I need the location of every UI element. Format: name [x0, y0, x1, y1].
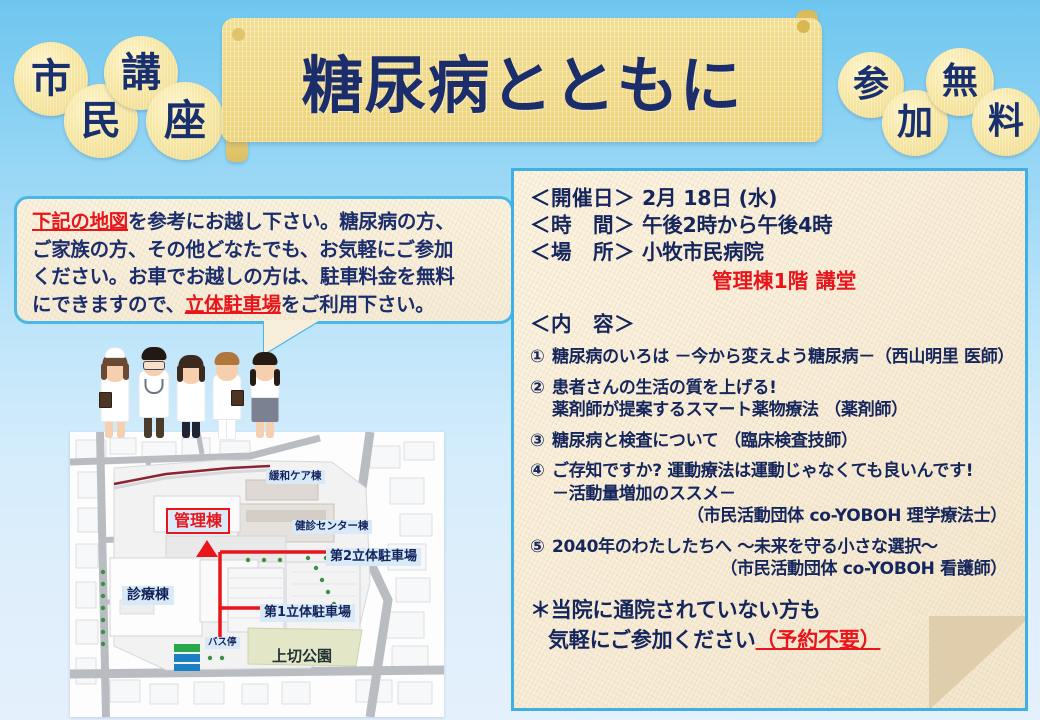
- clipboard-icon: [99, 392, 112, 408]
- map-label-kanwa-care: 緩和ケア棟: [266, 470, 325, 484]
- title-banner-wrap: 糖尿病とともに: [222, 18, 822, 152]
- program-list: ① 糖尿病のいろは －今から変えよう糖尿病－（西山明里 医師） ② 患者さんの生…: [530, 346, 1013, 581]
- program-item-2: ② 患者さんの生活の質を上げる! 薬剤師が提案するスマート薬物療法 （薬剤師）: [530, 377, 1013, 422]
- program-heading: ＜内 容＞: [530, 307, 1013, 337]
- map-graphic: [70, 432, 444, 717]
- program-text-4-1: ご存知ですか? 運動療法は運動じゃなくても良いんです!: [552, 460, 1013, 482]
- event-venue-room: 管理棟1階 講堂: [530, 266, 1013, 297]
- program-number-1: ①: [530, 346, 552, 369]
- bubble-line2: ご家族の方、その他どなたでも、お気軽にご参加: [32, 238, 453, 261]
- program-text-4-2: －活動量増加のススメ－: [552, 483, 1013, 505]
- map-label-parking-1: 第1立体駐車場: [260, 604, 355, 622]
- program-text-2-1: 患者さんの生活の質を上げる!: [552, 377, 1013, 399]
- map-label-parking-2: 第2立体駐車場: [326, 548, 421, 566]
- program-number-3: ③: [530, 430, 552, 453]
- program-credit-5: （市民活動団体 co-YOBOH 看護師）: [552, 558, 1013, 580]
- clipboard-icon-2: [231, 390, 244, 406]
- event-venue-row: ＜場 所＞ 小牧市民病院: [530, 239, 1013, 266]
- event-time-row: ＜時 間＞ 午後2時から午後4時: [530, 212, 1013, 239]
- glasses-icon: [143, 361, 165, 370]
- nurse-cap-icon: [105, 347, 126, 358]
- panel-footnote: ＊当院に通院されていない方も 気軽にご参加ください（予約不要）: [530, 596, 1013, 656]
- staff-figure-doctor: [136, 334, 172, 438]
- program-number-4: ④: [530, 460, 552, 527]
- program-text-2-2: 薬剤師が提案するスマート薬物療法 （薬剤師）: [552, 399, 1013, 421]
- program-item-5: ⑤ 2040年のわたしたちへ ～未来を守る小さな選択～ （市民活動団体 co-Y…: [530, 536, 1013, 581]
- staff-figure-nurse-2: [174, 340, 208, 438]
- footnote-no-reservation: （予約不要）: [756, 628, 881, 652]
- event-date-row: ＜開催日＞ 2月 18日 (水): [530, 185, 1013, 212]
- footnote-line-2-text: 気軽にご参加ください: [548, 628, 756, 652]
- bubble-line3: ください。お車でお越しの方は、駐車料金を無料: [32, 265, 454, 288]
- title-banner: 糖尿病とともに: [222, 18, 822, 142]
- medical-staff-illustration: [98, 334, 284, 438]
- instructions-text: 下記の地図を参考にお越し下さい。糖尿病の方、 ご家族の方、その他どなたでも、お気…: [32, 208, 498, 319]
- badge-za: 座: [146, 82, 224, 160]
- ribbon-notch-right: [797, 20, 810, 33]
- map-label-bus-stop: バス停: [205, 637, 240, 649]
- map-label-kanri-building: 管理棟: [166, 508, 230, 534]
- bubble-highlight-map: 下記の地図: [32, 210, 128, 233]
- ribbon-notch-left: [232, 28, 245, 41]
- staff-figure-office: [248, 338, 282, 438]
- footnote-line-2: 気軽にご参加ください（予約不要）: [530, 626, 1013, 656]
- map-label-park: 上切公園: [266, 646, 338, 667]
- event-time-label: ＜時 間＞: [530, 213, 635, 237]
- poster-root: 市 民 講 座 糖尿病とともに 参 加 無 料 下記の地図を参考にお越し下さい。…: [0, 0, 1040, 720]
- staff-figure-nurse-cap: [98, 338, 132, 438]
- badge-ryo: 料: [972, 88, 1040, 156]
- map-label-kenshin-center: 健診センター棟: [292, 520, 372, 534]
- poster-header: 市 民 講 座 糖尿病とともに 参 加 無 料: [0, 0, 1040, 165]
- bubble-line1-rest: を参考にお越し下さい。糖尿病の方、: [128, 210, 454, 233]
- program-item-1: ① 糖尿病のいろは －今から変えよう糖尿病－（西山明里 医師）: [530, 346, 1013, 369]
- event-info-panel: ＜開催日＞ 2月 18日 (水) ＜時 間＞ 午後2時から午後4時 ＜場 所＞ …: [511, 168, 1028, 711]
- event-venue-value: 小牧市民病院: [642, 240, 764, 264]
- map-label-shinryo-building: 診療棟: [122, 586, 174, 605]
- event-time-value: 午後2時から午後4時: [642, 213, 833, 237]
- bubble-highlight-parking: 立体駐車場: [185, 293, 281, 316]
- bubble-line4-end: をご利用下さい。: [281, 293, 435, 316]
- program-credit-4: （市民活動団体 co-YOBOH 理学療法士）: [552, 505, 1013, 527]
- footnote-line-1: ＊当院に通院されていない方も: [530, 596, 1013, 626]
- staff-figure-nurse-3: [210, 338, 244, 438]
- program-text-1-1: 糖尿病のいろは －今から変えよう糖尿病－（西山明里 医師）: [552, 346, 1014, 368]
- program-number-5: ⑤: [530, 536, 552, 581]
- program-number-2: ②: [530, 377, 552, 422]
- program-item-3: ③ 糖尿病と検査について （臨床検査技師）: [530, 430, 1013, 453]
- program-text-3-1: 糖尿病と検査について （臨床検査技師）: [552, 430, 1013, 452]
- event-date-label: ＜開催日＞: [530, 186, 635, 210]
- event-venue-label: ＜場 所＞: [530, 240, 635, 264]
- page-title: 糖尿病とともに: [301, 35, 742, 125]
- program-text-5-1: 2040年のわたしたちへ ～未来を守る小さな選択～: [552, 536, 1013, 558]
- event-date-value: 2月 18日 (水): [642, 186, 777, 210]
- bubble-line4-start: にできますので、: [32, 293, 185, 316]
- instructions-speech-bubble: 下記の地図を参考にお越し下さい。糖尿病の方、 ご家族の方、その他どなたでも、お気…: [14, 196, 514, 324]
- red-triangle-marker-icon: [196, 540, 218, 557]
- location-map[interactable]: 緩和ケア棟 健診センター棟 管理棟 診療棟 第2立体駐車場 第1立体駐車場 バス…: [70, 432, 444, 717]
- program-item-4: ④ ご存知ですか? 運動療法は運動じゃなくても良いんです! －活動量増加のススメ…: [530, 460, 1013, 527]
